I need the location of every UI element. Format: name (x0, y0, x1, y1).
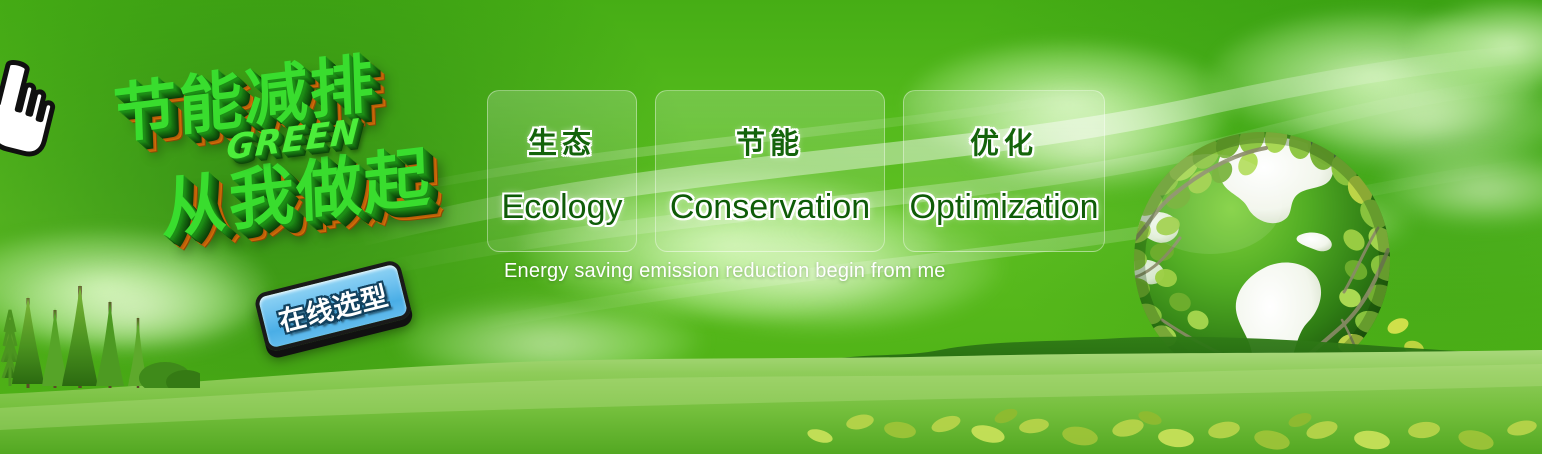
leafy-earth-globe (1102, 120, 1432, 430)
tagline-text: Energy saving emission reduction begin f… (504, 260, 946, 283)
feature-card-conservation[interactable]: 节能 Conservation (655, 90, 885, 252)
feature-card-title-cn: 节能 (736, 120, 804, 162)
feature-card-group: 生态 Ecology 节能 Conservation 优化 Optimizati… (487, 90, 1105, 252)
online-selection-button[interactable]: 在线选型 (253, 259, 413, 354)
hero-title-artwork: 节能减排 从我做起 GREEN (98, 28, 498, 268)
feature-card-optimization[interactable]: 优化 Optimization (903, 90, 1105, 252)
feature-card-title-en: Ecology (502, 188, 623, 227)
falling-leaves (1361, 315, 1429, 396)
hero-banner: 节能减排 从我做起 GREEN 在线选型 生态 Ecology 节能 Conse… (0, 0, 1542, 454)
feature-card-title-en: Conservation (670, 188, 870, 227)
feature-card-title-en: Optimization (910, 188, 1099, 227)
pine-tree-row (0, 258, 200, 388)
cloud-icon (1410, 0, 1542, 90)
hand-pointer-icon (0, 49, 74, 163)
cloud-icon (400, 300, 700, 380)
feature-card-ecology[interactable]: 生态 Ecology (487, 90, 637, 252)
feature-card-title-cn: 生态 (528, 120, 596, 162)
feature-card-title-cn: 优化 (970, 120, 1038, 162)
pine-tree (2, 284, 200, 388)
button-label: 在线选型 (253, 259, 413, 354)
